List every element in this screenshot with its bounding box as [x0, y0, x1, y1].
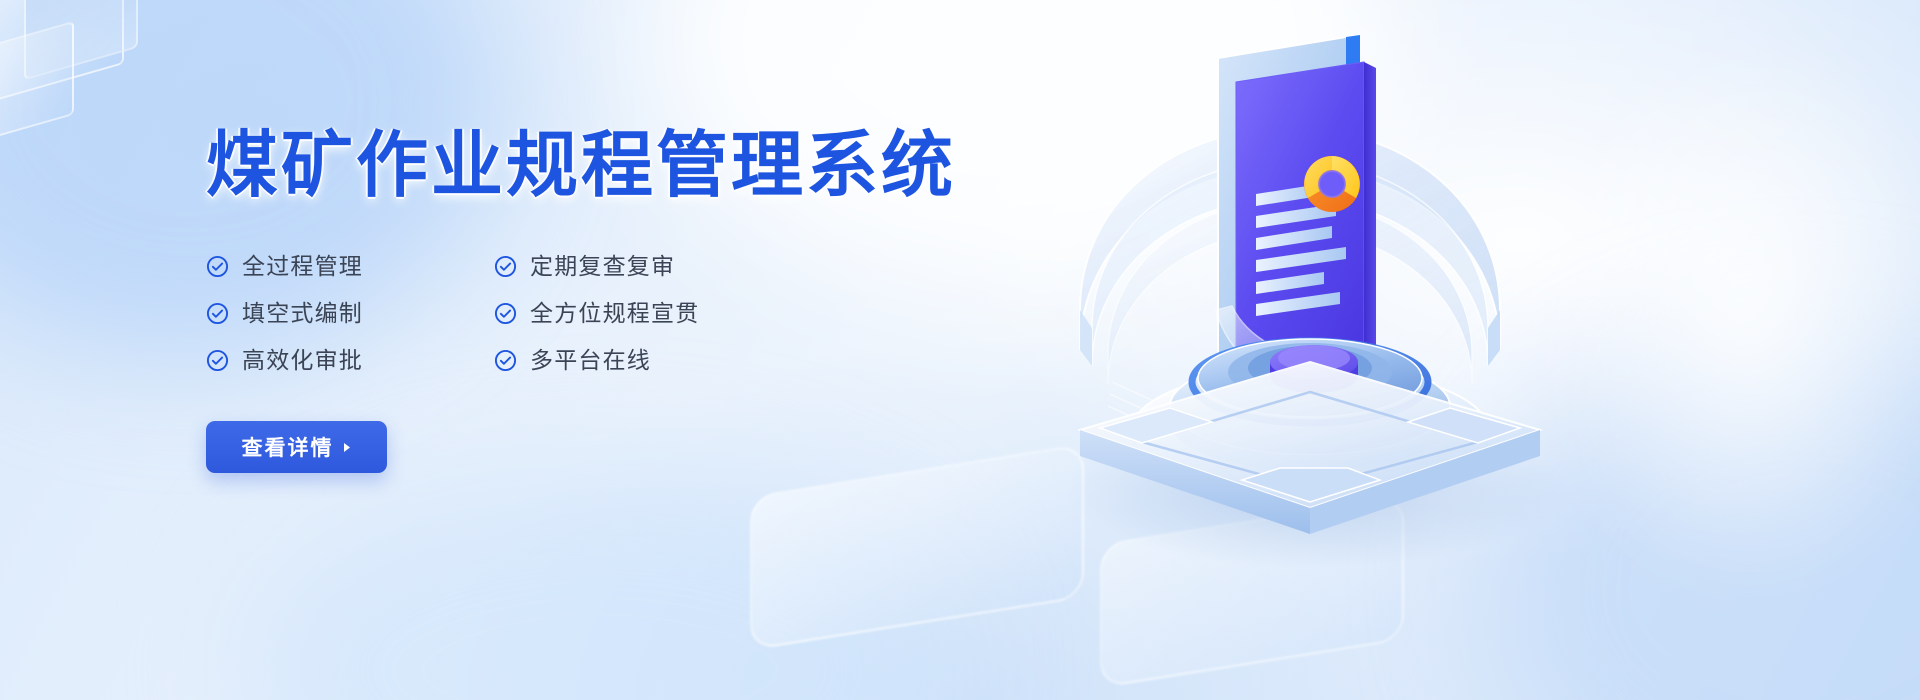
donut-chart [1304, 156, 1360, 212]
feature-list: 全过程管理 定期复查复审 填空式编制 [206, 243, 806, 384]
feature-label: 多平台在线 [530, 349, 651, 372]
decor-cube-top-left-2 [24, 0, 138, 80]
chevron-right-icon [343, 442, 352, 453]
view-details-button[interactable]: 查看详情 [206, 421, 387, 473]
feature-label: 全方位规程宣贯 [530, 302, 699, 325]
feature-item: 多平台在线 [494, 349, 794, 372]
hero-illustration [980, 10, 1600, 570]
feature-label: 高效化审批 [242, 349, 363, 372]
feature-label: 填空式编制 [242, 302, 363, 325]
page-title: 煤矿作业规程管理系统 [206, 123, 956, 209]
decor-cube-top-left [0, 0, 124, 108]
decor-cube-top-left-3 [0, 21, 74, 153]
view-details-label: 查看详情 [242, 432, 334, 462]
feature-label: 定期复查复审 [530, 255, 675, 278]
check-circle-icon [494, 349, 517, 372]
check-circle-icon [206, 349, 229, 372]
feature-item: 高效化审批 [206, 349, 494, 372]
feature-row: 高效化审批 多平台在线 [206, 337, 806, 384]
feature-item: 填空式编制 [206, 302, 494, 325]
feature-row: 全过程管理 定期复查复审 [206, 243, 806, 290]
feature-item: 全方位规程宣贯 [494, 302, 794, 325]
hero-banner: 煤矿作业规程管理系统 全过程管理 定期复查复审 [0, 0, 1920, 700]
check-circle-icon [206, 302, 229, 325]
check-circle-icon [206, 255, 229, 278]
check-circle-icon [494, 302, 517, 325]
feature-item: 定期复查复审 [494, 255, 794, 278]
hero-content: 煤矿作业规程管理系统 全过程管理 定期复查复审 [206, 0, 1026, 700]
feature-row: 填空式编制 全方位规程宣贯 [206, 290, 806, 337]
check-circle-icon [494, 255, 517, 278]
feature-label: 全过程管理 [242, 255, 363, 278]
feature-item: 全过程管理 [206, 255, 494, 278]
